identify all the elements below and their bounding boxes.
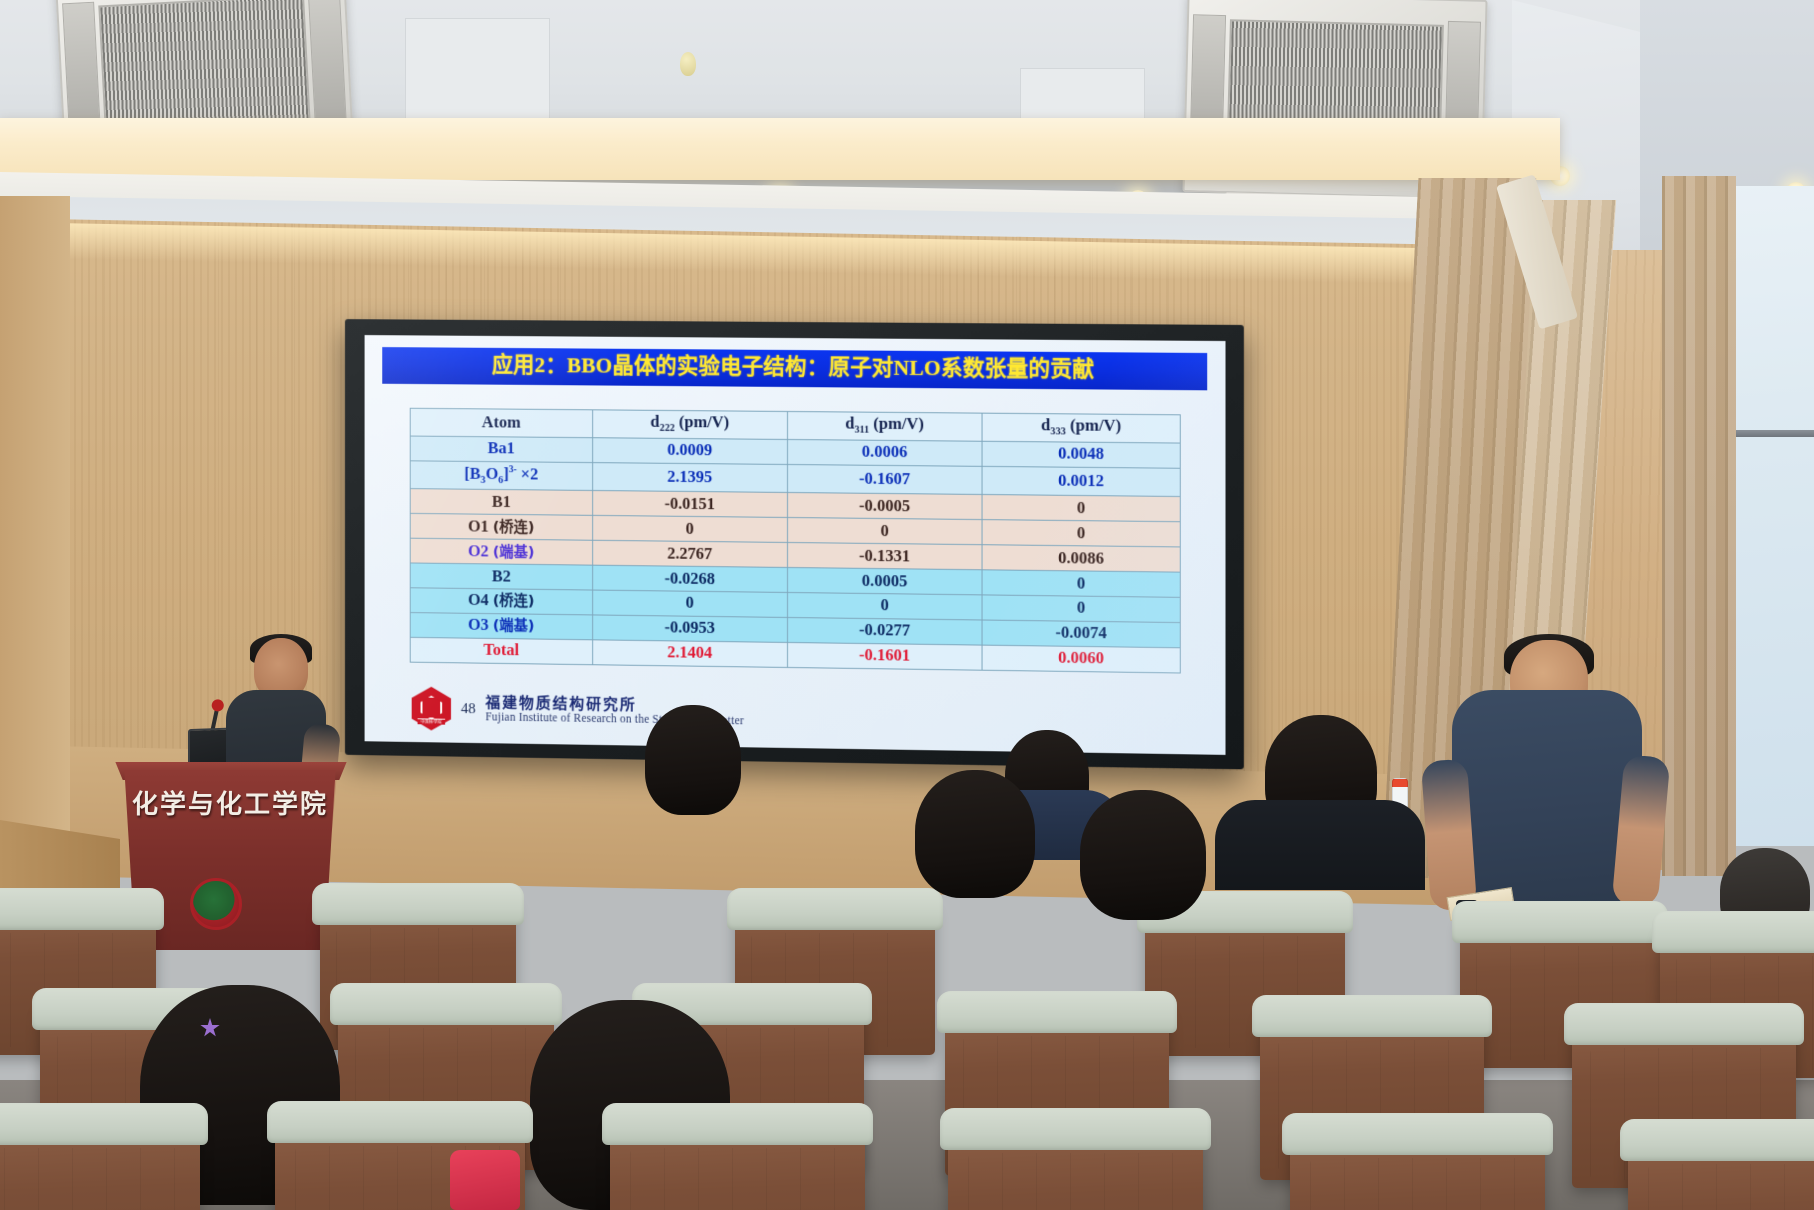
d-unit: (pm/V): [873, 414, 924, 433]
row-label-o1: O1 (桥连): [410, 513, 592, 540]
window-mullion-horizontal: [1736, 430, 1814, 437]
cell-d333: 0.0060: [982, 645, 1180, 673]
cell-d222: 2.2767: [593, 540, 788, 567]
o2-symbol: O2: [468, 541, 489, 560]
fjirsm-hexagon-logo-icon: 中国科学院: [412, 686, 451, 730]
cell-d333: 0: [982, 595, 1180, 623]
nlo-table-wrapper: Atom d222 (pm/V) d311 (pm/V) d333 (pm/V)…: [410, 407, 1181, 673]
audience-head: [1080, 790, 1206, 920]
o3-symbol: O3: [468, 615, 489, 634]
cell-d333: 0.0012: [982, 466, 1180, 497]
cell-d222: 2.1404: [593, 640, 788, 668]
cell-d311: -0.0005: [787, 493, 982, 520]
audience-head: [915, 770, 1035, 898]
university-emblem-icon: [190, 878, 242, 930]
cell-d311: 0: [787, 518, 982, 545]
col-header-atom: Atom: [410, 408, 592, 437]
auditorium-seat[interactable]: [1628, 1136, 1814, 1210]
row-label-b3o6: [B3O6]3- ×2: [410, 460, 592, 490]
window-curtain-right: [1662, 176, 1736, 876]
cell-d311: 0: [787, 592, 982, 620]
cell-d311: -0.0277: [787, 617, 982, 645]
cell-d333: 0.0048: [982, 441, 1180, 468]
slide-number: 48: [461, 701, 476, 718]
auditorium-seat[interactable]: [610, 1120, 865, 1210]
o2-annotation: (端基): [493, 544, 535, 560]
cell-d311: -0.1607: [787, 464, 982, 495]
row-label-ba1: Ba1: [410, 436, 592, 463]
o1-annotation: (桥连): [493, 519, 535, 535]
left-wall-return: [0, 196, 70, 876]
cell-d333: 0: [982, 520, 1180, 547]
lecture-hall-scene: 应用2：BBO晶体的实验电子结构：原子对NLO系数张量的贡献 Atom d222…: [0, 0, 1814, 1210]
projection-screen[interactable]: 应用2：BBO晶体的实验电子结构：原子对NLO系数张量的贡献 Atom d222…: [345, 319, 1244, 769]
cell-d333: -0.0074: [982, 620, 1180, 648]
row-label-o3: O3 (端基): [410, 612, 592, 639]
o1-symbol: O1: [468, 516, 489, 535]
row-label-b1: B1: [410, 489, 592, 516]
backpack: [450, 1150, 520, 1210]
d-sub: 333: [1050, 427, 1065, 438]
d-sub: 311: [854, 425, 869, 436]
auditorium-seat[interactable]: [1290, 1130, 1545, 1210]
d-unit: (pm/V): [679, 412, 729, 431]
cell-d222: 2.1395: [593, 462, 788, 492]
col-header-d333: d333 (pm/V): [982, 413, 1180, 443]
cell-d222: -0.0953: [593, 615, 788, 642]
d-base: d: [1041, 415, 1050, 434]
logo-caption: 中国科学院: [418, 718, 446, 724]
d-base: d: [650, 412, 659, 431]
row-label-o2: O2 (端基): [410, 538, 592, 565]
podium-sign-text: 化学与化工学院: [120, 782, 340, 822]
row-label-b2: B2: [410, 563, 592, 590]
o4-annotation: (桥连): [493, 594, 535, 610]
table-body: Ba1 0.0009 0.0006 0.0048 [B3O6]3- ×2 2.1…: [410, 436, 1180, 673]
cell-d333: 0: [982, 495, 1180, 522]
auditorium-seat[interactable]: [948, 1125, 1203, 1210]
audience-shoulders: [1215, 800, 1425, 890]
cell-d311: -0.1331: [787, 543, 982, 570]
cell-d311: 0.0006: [787, 439, 982, 466]
o3-annotation: (端基): [493, 619, 535, 635]
cell-d222: 0: [593, 590, 788, 617]
row-label-o4: O4 (桥连): [410, 588, 592, 615]
nlo-coefficient-table: Atom d222 (pm/V) d311 (pm/V) d333 (pm/V)…: [410, 407, 1181, 673]
cell-d333: 0.0086: [982, 545, 1180, 572]
col-header-d311: d311 (pm/V): [787, 411, 982, 441]
cell-d222: -0.0151: [593, 491, 788, 518]
d-sub: 222: [660, 423, 675, 434]
cell-d311: 0.0005: [787, 567, 982, 594]
presentation-slide: 应用2：BBO晶体的实验电子结构：原子对NLO系数张量的贡献 Atom d222…: [365, 335, 1226, 755]
cell-d222: -0.0268: [593, 565, 788, 592]
cell-d311: -0.1601: [787, 642, 982, 670]
ceiling-cove-light: [0, 118, 1560, 180]
cell-d222: 0.0009: [593, 437, 788, 464]
d-unit: (pm/V): [1070, 415, 1121, 435]
cell-d222: 0: [593, 515, 788, 542]
audience-head: [645, 705, 741, 815]
slide-footer: 中国科学院 48 福建物质结构研究所 Fujian Institute of R…: [378, 686, 1211, 749]
row-label-total: Total: [410, 637, 592, 664]
auditorium-seat[interactable]: [0, 1120, 200, 1210]
smoke-detector-icon: [680, 52, 696, 76]
slide-title: 应用2：BBO晶体的实验电子结构：原子对NLO系数张量的贡献: [382, 347, 1207, 390]
col-header-d222: d222 (pm/V): [593, 409, 788, 439]
o4-symbol: O4: [468, 590, 489, 609]
slide-surface: 应用2：BBO晶体的实验电子结构：原子对NLO系数张量的贡献 Atom d222…: [365, 335, 1226, 755]
cell-d333: 0: [982, 570, 1180, 598]
